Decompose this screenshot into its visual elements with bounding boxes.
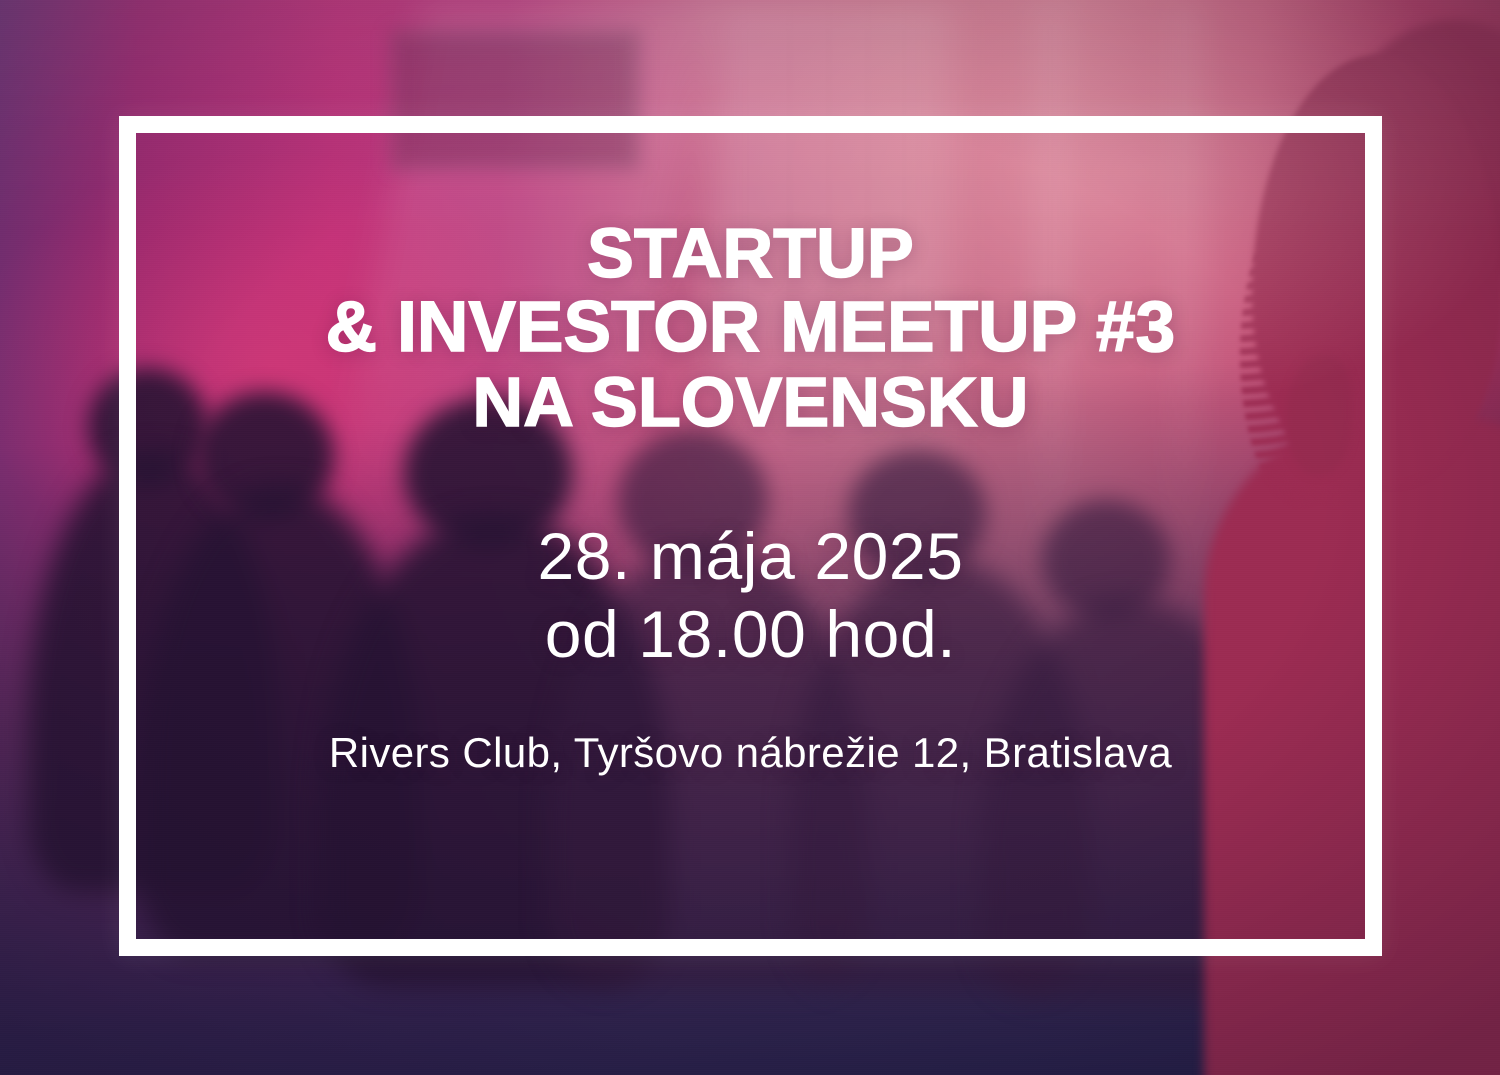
event-poster: STARTUP & INVESTOR MEETUP #3 NA SLOVENSK… bbox=[0, 0, 1500, 1075]
poster-date-time: 28. mája 2025 od 18.00 hod. bbox=[537, 518, 963, 674]
poster-content: STARTUP & INVESTOR MEETUP #3 NA SLOVENSK… bbox=[119, 116, 1382, 956]
headline-line-1: STARTUP bbox=[326, 216, 1176, 290]
headline-line-2: & INVESTOR MEETUP #3 bbox=[326, 290, 1176, 365]
poster-venue-address: Rivers Club, Tyršovo nábrežie 12, Bratis… bbox=[329, 729, 1172, 777]
poster-headline: STARTUP & INVESTOR MEETUP #3 NA SLOVENSK… bbox=[326, 216, 1176, 440]
headline-line-3: NA SLOVENSKU bbox=[326, 365, 1176, 439]
event-date: 28. mája 2025 bbox=[537, 518, 963, 596]
event-time: od 18.00 hod. bbox=[537, 596, 963, 674]
